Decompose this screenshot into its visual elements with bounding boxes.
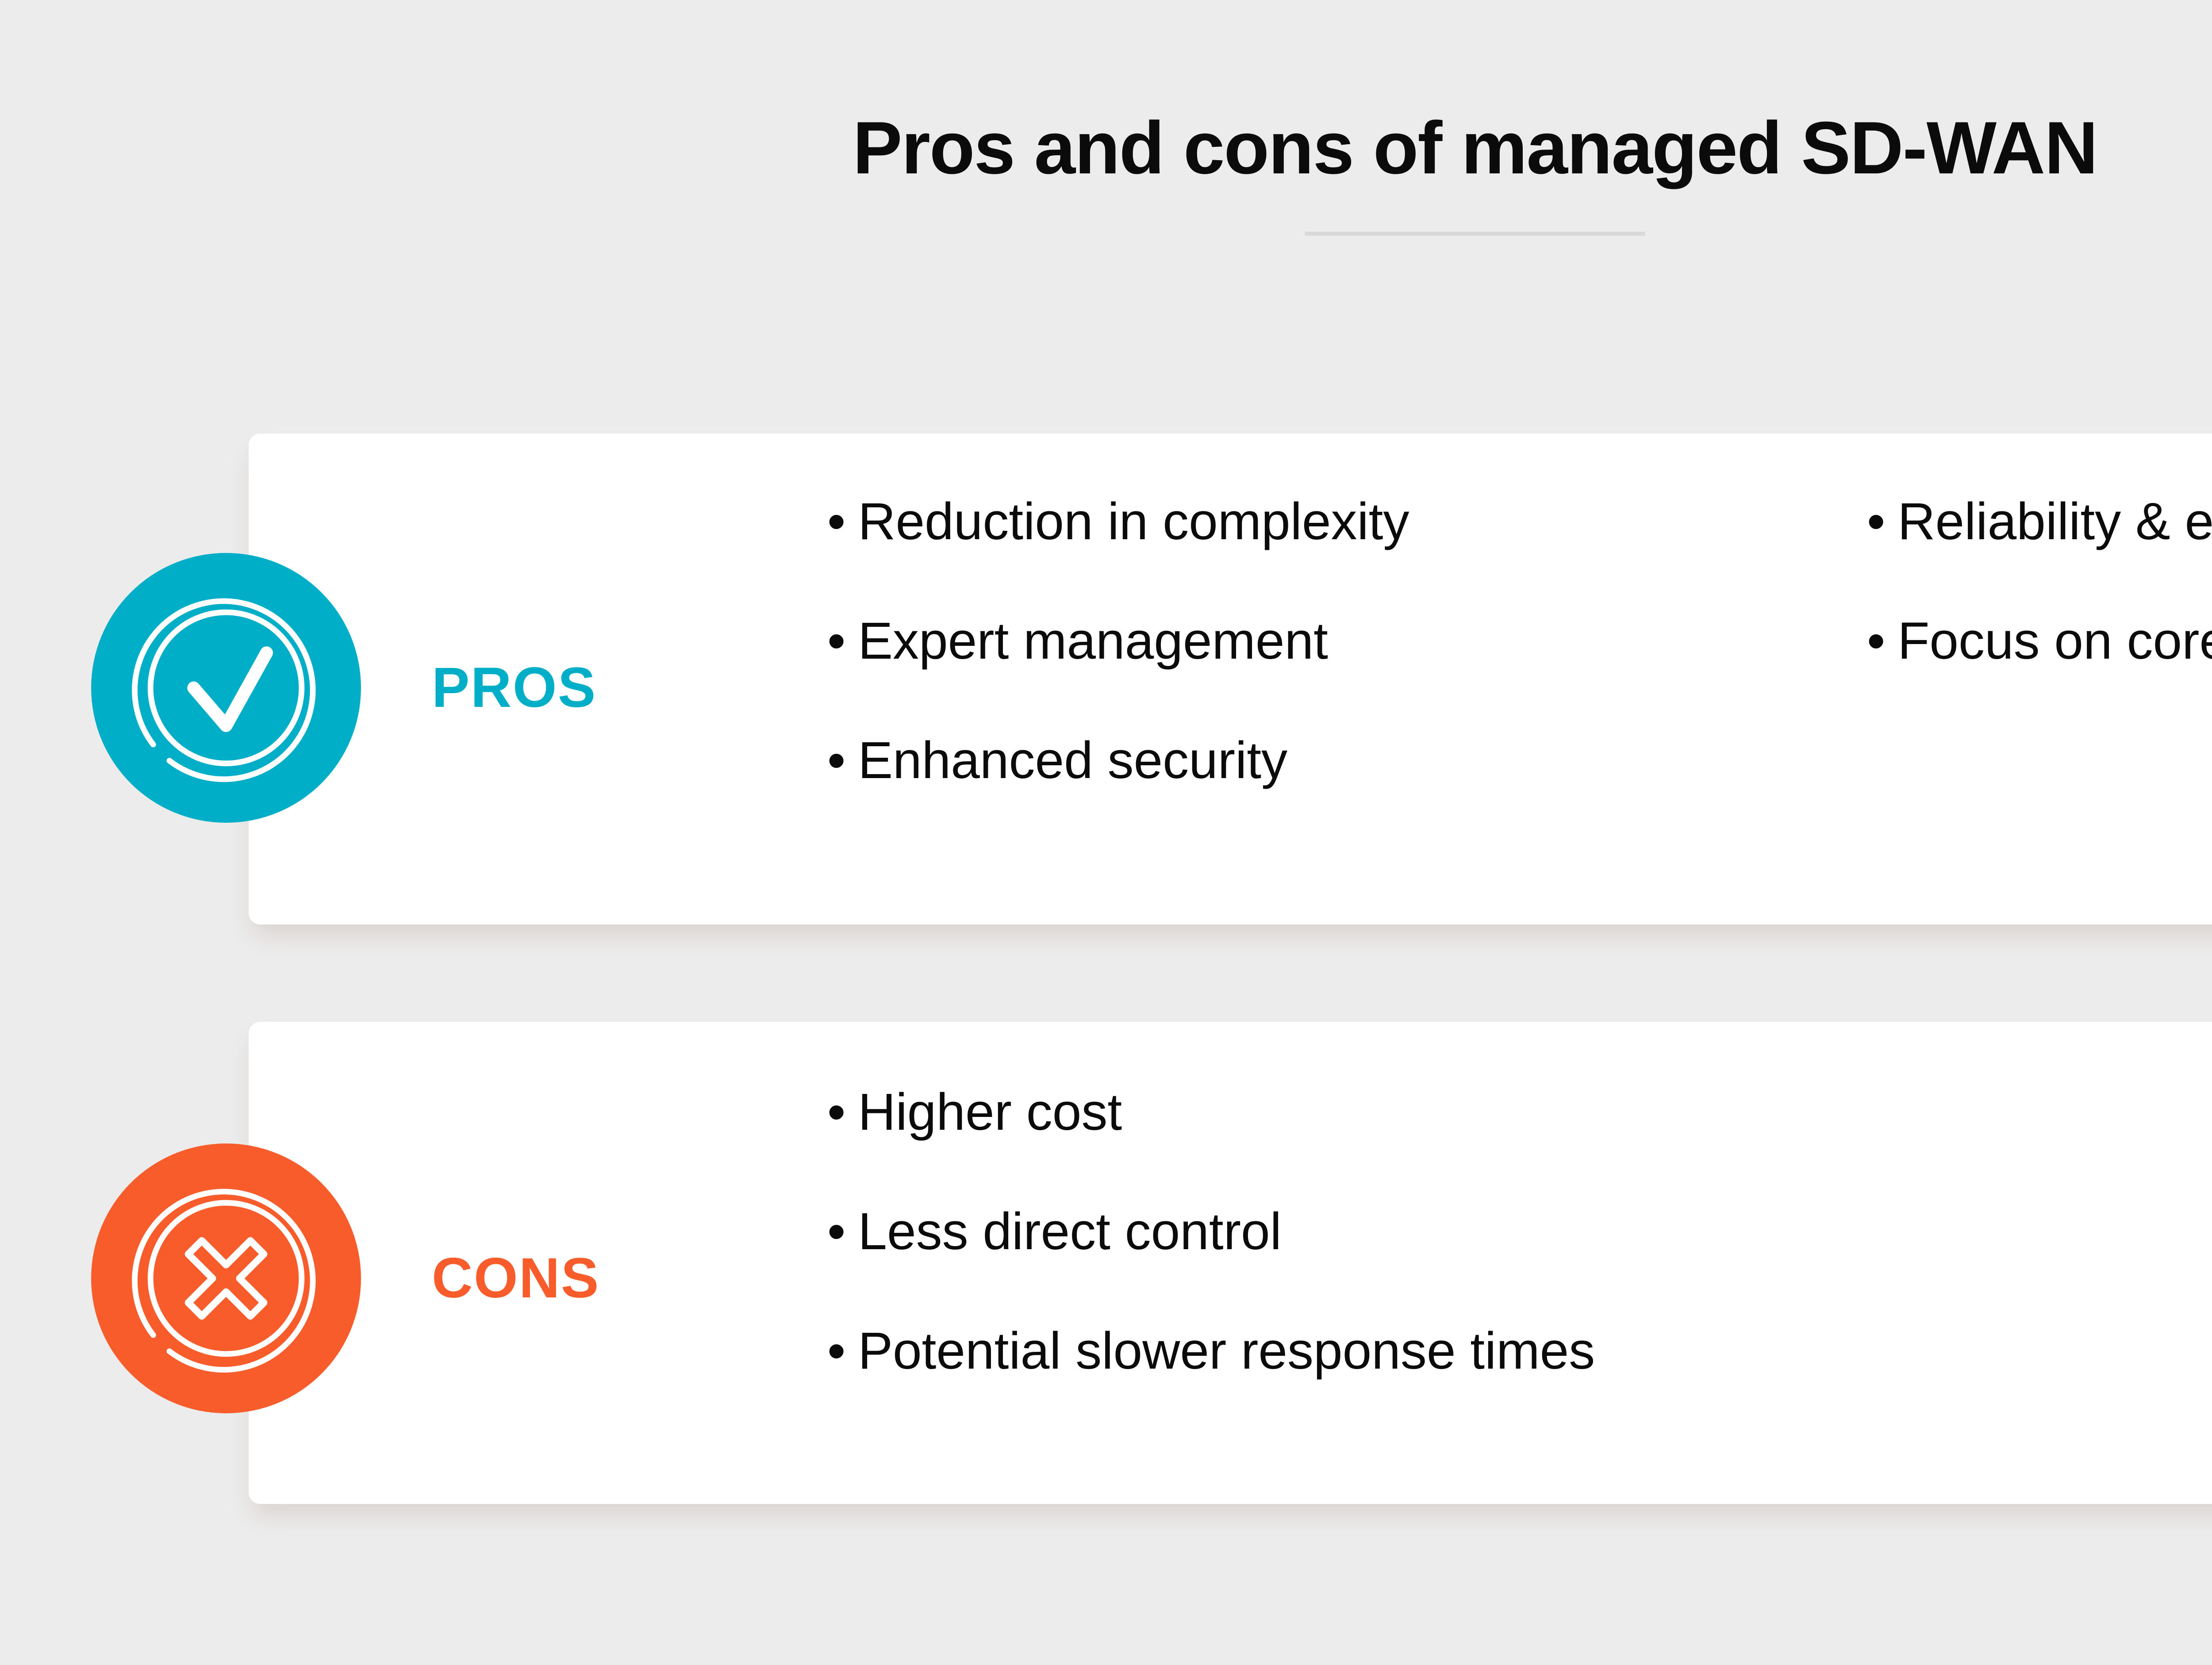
pros-badge: PROS <box>91 553 597 823</box>
pros-column-left: • Reduction in complexity • Expert manag… <box>827 495 1867 854</box>
list-item: • Reduction in complexity <box>827 495 1867 548</box>
list-item-label: Focus on core activities <box>1897 615 2212 667</box>
list-item-label: Enhanced security <box>858 734 1287 786</box>
list-item-label: Reliability & efficiency <box>1897 495 2212 548</box>
cons-label: CONS <box>432 1250 600 1307</box>
pros-bullet-lists: • Reduction in complexity • Expert manag… <box>827 495 2212 854</box>
list-item: • Less direct control <box>827 1205 1867 1258</box>
pros-label: PROS <box>432 660 597 716</box>
bullet-dot-icon: • <box>827 734 845 786</box>
bullet-dot-icon: • <box>827 1325 845 1377</box>
bullet-dot-icon: • <box>827 1205 845 1258</box>
bullet-dot-icon: • <box>1867 495 1885 548</box>
list-item-label: Reduction in complexity <box>858 495 1409 548</box>
list-item-label: Less direct control <box>858 1205 1282 1258</box>
list-item: • Enhanced security <box>827 734 1867 786</box>
list-item-label: Higher cost <box>858 1086 1122 1138</box>
bullet-dot-icon: • <box>827 1086 845 1138</box>
x-circle-icon <box>91 1143 361 1413</box>
bullet-dot-icon: • <box>827 615 845 667</box>
list-item: • Focus on core activities <box>1867 615 2212 667</box>
bullet-dot-icon: • <box>1867 615 1885 667</box>
list-item-label: Potential slower response times <box>858 1325 1595 1377</box>
cons-column-left: • Higher cost • Less direct control • Po… <box>827 1086 1867 1444</box>
pros-column-right: • Reliability & efficiency • Focus on co… <box>1867 495 2212 854</box>
list-item: • Expert management <box>827 615 1867 667</box>
list-item: • Potential slower response times <box>827 1325 1867 1377</box>
cons-bullet-lists: • Higher cost • Less direct control • Po… <box>827 1086 1867 1444</box>
check-circle-icon <box>91 553 361 823</box>
title-divider <box>1305 232 1645 236</box>
bullet-dot-icon: • <box>827 495 845 548</box>
cons-badge: CONS <box>91 1143 600 1413</box>
list-item: • Reliability & efficiency <box>1867 495 2212 548</box>
list-item-label: Expert management <box>858 615 1328 667</box>
page-title: Pros and cons of managed SD-WAN <box>0 111 2212 185</box>
list-item: • Higher cost <box>827 1086 1867 1138</box>
header: Pros and cons of managed SD-WAN <box>0 0 2212 236</box>
